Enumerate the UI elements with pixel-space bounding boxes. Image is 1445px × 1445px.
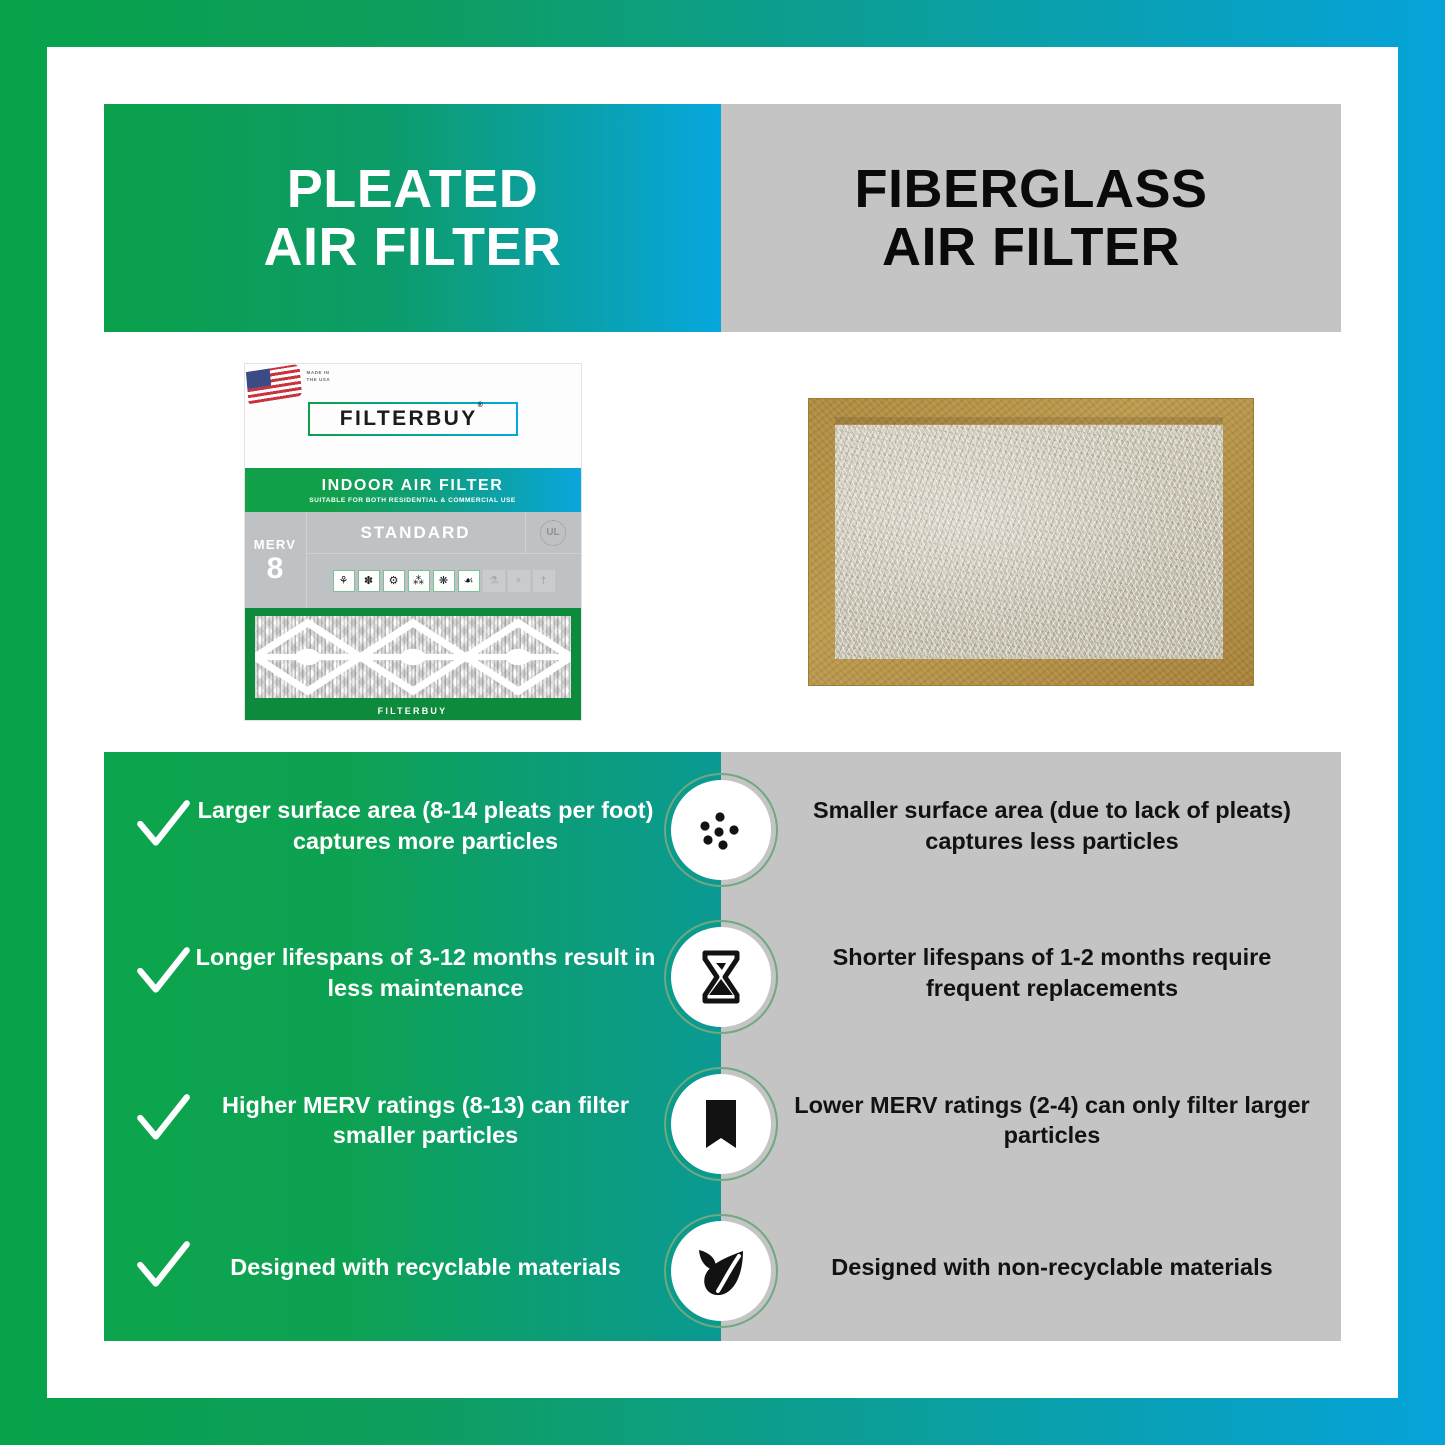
box-grade-label: STANDARD bbox=[307, 523, 525, 543]
badge-leaf bbox=[664, 1214, 778, 1328]
comparison-text-pleated-1: Larger surface area (8-14 pleats per foo… bbox=[194, 795, 657, 856]
merv-badge: MERV 8 bbox=[245, 512, 307, 608]
box-spec-right: STANDARD UL ⚘ ✽ ⚙ ⁂ bbox=[307, 512, 581, 608]
pleated-image-cell: MADE IN THE USA FILTERBUY® INDOOR AIR FI… bbox=[104, 332, 721, 752]
comparison-grid: Larger surface area (8-14 pleats per foo… bbox=[104, 752, 1341, 1341]
box-banner-subtitle: SUITABLE FOR BOTH RESIDENTIAL & COMMERCI… bbox=[309, 497, 516, 504]
leaf-icon bbox=[689, 1239, 753, 1303]
badge-bookmark bbox=[664, 1067, 778, 1181]
badge-particles bbox=[664, 773, 778, 887]
comparison-card: PLEATED AIR FILTER FIBERGLASS AIR FILTER bbox=[104, 104, 1341, 1341]
smoke-icon: ⚗ bbox=[483, 570, 505, 592]
badge-disc bbox=[671, 780, 771, 880]
comparison-text-pleated-3: Higher MERV ratings (8-13) can filter sm… bbox=[194, 1090, 657, 1151]
check-icon bbox=[132, 1236, 194, 1298]
badge-disc bbox=[671, 927, 771, 1027]
hourglass-icon bbox=[689, 945, 753, 1009]
bookmark-icon bbox=[689, 1092, 753, 1156]
filter-support-grid bbox=[255, 616, 571, 698]
header-fiberglass-line2: AIR FILTER bbox=[882, 217, 1180, 277]
filterbuy-box-image: MADE IN THE USA FILTERBUY® INDOOR AIR FI… bbox=[245, 364, 581, 720]
badge-disc bbox=[671, 1074, 771, 1174]
comparison-text-fiberglass-4: Designed with non-recyclable materials bbox=[791, 1252, 1313, 1283]
comparison-row-fiberglass-3: Lower MERV ratings (2-4) can only filter… bbox=[721, 1047, 1341, 1194]
ul-mark-icon: UL bbox=[540, 520, 566, 546]
merv-value: 8 bbox=[267, 554, 284, 584]
comparison-row-pleated-2: Longer lifespans of 3-12 months result i… bbox=[104, 899, 721, 1046]
comparison-row-pleated-4: Designed with recyclable materials bbox=[104, 1194, 721, 1341]
header-pleated-line2: AIR FILTER bbox=[264, 217, 562, 277]
box-bottom-brand: FILTERBUY bbox=[245, 706, 581, 716]
dust-mites-icon: ⁂ bbox=[408, 570, 430, 592]
box-feature-icon-row: ⚘ ✽ ⚙ ⁂ ❋ ☙ ⚗ ⚬ ☨ bbox=[307, 554, 581, 608]
box-spec-section: MERV 8 STANDARD UL bbox=[245, 512, 581, 608]
filterbuy-logo-frame: FILTERBUY® bbox=[308, 402, 518, 436]
comparison-text-fiberglass-2: Shorter lifespans of 1-2 months require … bbox=[791, 942, 1313, 1003]
box-grade-row: STANDARD UL bbox=[307, 512, 581, 554]
ul-certification: UL bbox=[525, 512, 581, 553]
header-fiberglass-line1: FIBERGLASS bbox=[854, 159, 1207, 219]
comparison-row-pleated-1: Larger surface area (8-14 pleats per foo… bbox=[104, 752, 721, 899]
comparison-text-fiberglass-1: Smaller surface area (due to lack of ple… bbox=[791, 795, 1313, 856]
header-pleated: PLEATED AIR FILTER bbox=[104, 104, 721, 332]
fiberglass-image-cell bbox=[721, 332, 1341, 752]
comparison-text-fiberglass-3: Lower MERV ratings (2-4) can only filter… bbox=[791, 1090, 1313, 1151]
comparison-row-fiberglass-2: Shorter lifespans of 1-2 months require … bbox=[721, 899, 1341, 1046]
pet-dander-icon: ❋ bbox=[433, 570, 455, 592]
comparison-text-pleated-4: Designed with recyclable materials bbox=[194, 1252, 657, 1283]
made-in-line2: THE USA bbox=[307, 377, 331, 382]
fiberglass-frame-seam bbox=[835, 417, 1223, 424]
header-fiberglass: FIBERGLASS AIR FILTER bbox=[721, 104, 1341, 332]
comparison-row-fiberglass-1: Smaller surface area (due to lack of ple… bbox=[721, 752, 1341, 899]
poster-inner-white: PLEATED AIR FILTER FIBERGLASS AIR FILTER bbox=[47, 47, 1398, 1398]
mold-spores-icon: ⚙ bbox=[383, 570, 405, 592]
filterbuy-logo-text: FILTERBUY® bbox=[340, 407, 485, 431]
header-pleated-title: PLEATED AIR FILTER bbox=[264, 160, 562, 277]
box-banner-title: INDOOR AIR FILTER bbox=[322, 477, 504, 495]
pollen-icon: ✽ bbox=[358, 570, 380, 592]
comparison-column-fiberglass: Smaller surface area (due to lack of ple… bbox=[721, 752, 1341, 1341]
header-pleated-line1: PLEATED bbox=[287, 159, 539, 219]
badge-disc bbox=[671, 1221, 771, 1321]
merv-label: MERV bbox=[254, 537, 297, 552]
particles-icon bbox=[689, 798, 753, 862]
infographic-poster: PLEATED AIR FILTER FIBERGLASS AIR FILTER bbox=[0, 0, 1445, 1445]
header-fiberglass-title: FIBERGLASS AIR FILTER bbox=[854, 160, 1207, 277]
bacteria-icon: ⚬ bbox=[508, 570, 530, 592]
box-filter-media-section: FILTERBUY bbox=[245, 608, 581, 720]
check-icon bbox=[132, 1089, 194, 1151]
made-in-line1: MADE IN bbox=[307, 370, 330, 375]
comparison-row-fiberglass-4: Designed with non-recyclable materials bbox=[721, 1194, 1341, 1341]
fiberglass-media-texture bbox=[835, 425, 1223, 659]
comparison-column-pleated: Larger surface area (8-14 pleats per foo… bbox=[104, 752, 721, 1341]
check-icon bbox=[132, 942, 194, 1004]
comparison-text-pleated-2: Longer lifespans of 3-12 months result i… bbox=[194, 942, 657, 1003]
dust-lint-icon: ⚘ bbox=[333, 570, 355, 592]
usa-flag-icon bbox=[245, 364, 301, 404]
header-band: PLEATED AIR FILTER FIBERGLASS AIR FILTER bbox=[104, 104, 1341, 332]
virus-icon: ☨ bbox=[533, 570, 555, 592]
check-icon bbox=[132, 795, 194, 857]
badge-hourglass bbox=[664, 920, 778, 1034]
box-banner: INDOOR AIR FILTER SUITABLE FOR BOTH RESI… bbox=[245, 468, 581, 512]
box-top-section: MADE IN THE USA FILTERBUY® bbox=[245, 364, 581, 468]
pet-hair-icon: ☙ bbox=[458, 570, 480, 592]
fiberglass-filter-image bbox=[809, 399, 1253, 685]
made-in-usa-label: MADE IN THE USA bbox=[307, 370, 331, 383]
product-image-band: MADE IN THE USA FILTERBUY® INDOOR AIR FI… bbox=[104, 332, 1341, 752]
comparison-row-pleated-3: Higher MERV ratings (8-13) can filter sm… bbox=[104, 1047, 721, 1194]
